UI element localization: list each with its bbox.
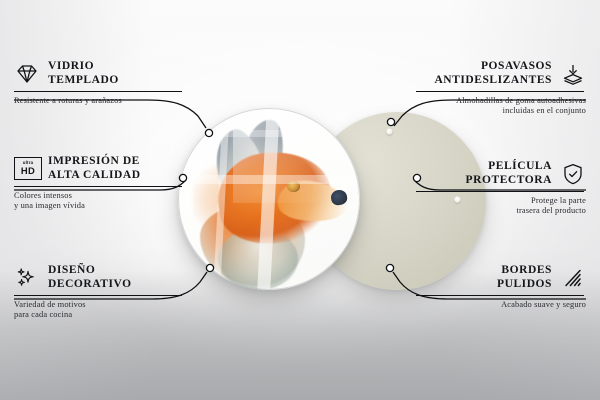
feature-rule — [416, 191, 584, 192]
feature-subtitle: Acabado suave y seguro — [416, 300, 586, 310]
feature-title: IMPRESIÓN DE ALTA CALIDAD — [48, 155, 141, 182]
feature-title: BORDES PULIDOS — [497, 264, 552, 291]
feature-title: PELÍCULA PROTECTORA — [466, 160, 552, 187]
rubber-pad — [386, 128, 393, 135]
polished-edge-icon — [560, 266, 586, 290]
feature-subtitle: Resistente a roturas y arañazos — [14, 96, 184, 106]
feature-rule — [14, 91, 182, 92]
rubber-pad — [386, 263, 393, 270]
feature-decorative-design: DISEÑO DECORATIVO Variedad de motivos pa… — [14, 264, 184, 321]
feature-subtitle: Colores intensos y una imagen vívida — [14, 191, 184, 212]
press-down-pad-icon — [560, 62, 586, 86]
infographic-canvas: VIDRIO TEMPLADO Resistente a roturas y a… — [0, 0, 600, 400]
feature-subtitle: Variedad de motivos para cada cocina — [14, 300, 184, 321]
sparkles-icon — [14, 266, 40, 290]
feature-title: VIDRIO TEMPLADO — [48, 60, 119, 87]
feature-protective-film: PELÍCULA PROTECTORA Protege la parte tra… — [416, 160, 586, 217]
feature-rule — [416, 91, 584, 92]
glass-rim — [178, 108, 360, 290]
feature-nonslip-coasters: POSAVASOS ANTIDESLIZANTES Almohadillas d… — [416, 60, 586, 117]
shield-check-icon — [560, 162, 586, 186]
feature-subtitle: Protege la parte trasera del producto — [416, 196, 586, 217]
feature-title: POSAVASOS ANTIDESLIZANTES — [434, 60, 552, 87]
feature-rule — [14, 295, 182, 296]
feature-tempered-glass: VIDRIO TEMPLADO Resistente a roturas y a… — [14, 60, 184, 106]
glass-coaster-front — [178, 108, 360, 290]
feature-subtitle: Almohadillas de goma autoadhesivas inclu… — [416, 96, 586, 117]
feature-title: DISEÑO DECORATIVO — [48, 264, 132, 291]
ultra-hd-icon: ultra HD — [14, 157, 40, 181]
feature-polished-edges: BORDES PULIDOS Acabado suave y seguro — [416, 264, 586, 310]
diamond-icon — [14, 62, 40, 86]
feature-rule — [416, 295, 584, 296]
feature-hd-print: ultra HD IMPRESIÓN DE ALTA CALIDAD Color… — [14, 155, 184, 212]
feature-rule — [14, 186, 182, 187]
